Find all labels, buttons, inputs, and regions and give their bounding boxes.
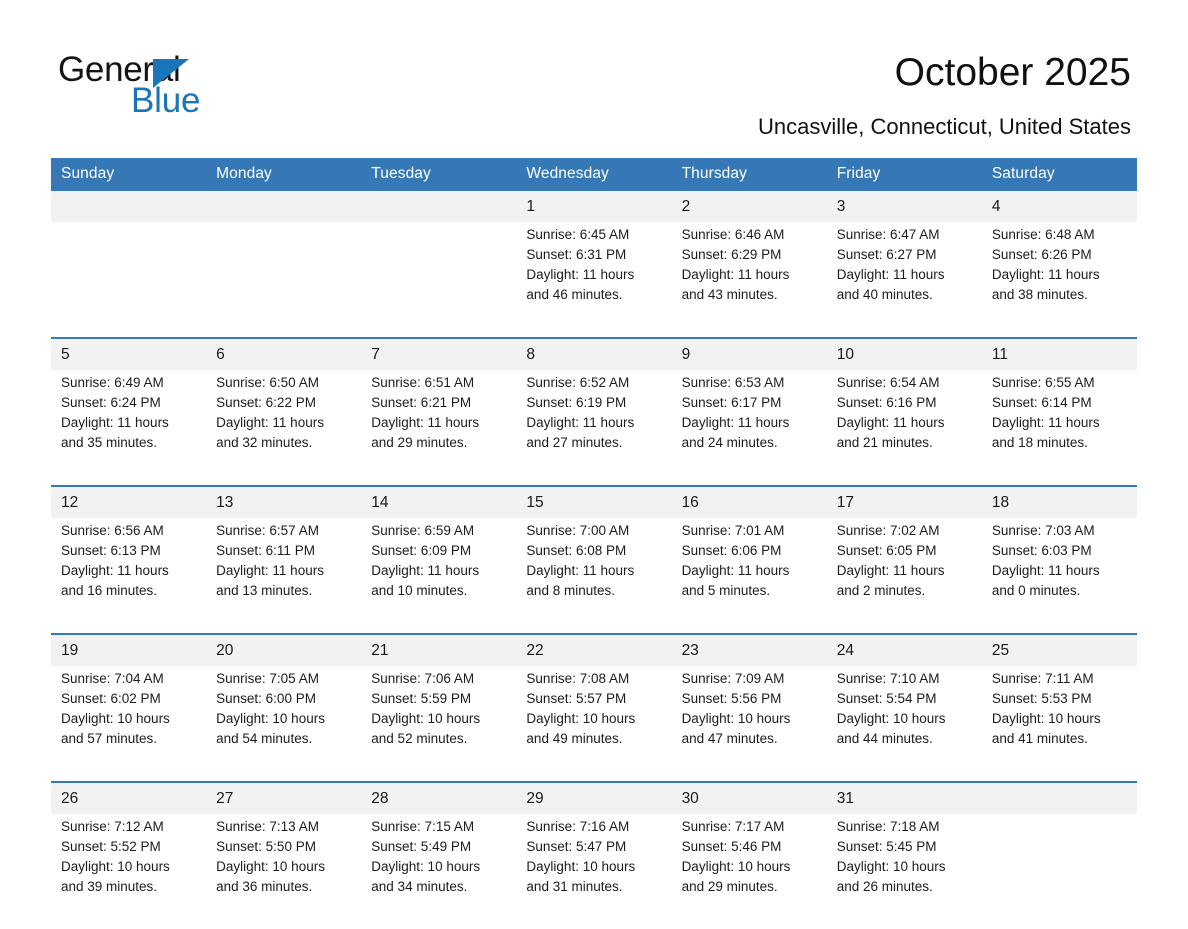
day-detail-line: and 10 minutes. [371,581,508,601]
day-detail-empty [361,222,516,338]
day-detail[interactable]: Sunrise: 7:05 AMSunset: 6:00 PMDaylight:… [206,666,361,782]
day-detail-line: Sunset: 6:31 PM [526,245,663,265]
day-detail-line: Sunrise: 7:08 AM [526,669,663,689]
day-number[interactable]: 23 [672,634,827,666]
day-number[interactable]: 19 [51,634,206,666]
day-detail-line: Sunrise: 7:11 AM [992,669,1129,689]
day-detail[interactable]: Sunrise: 6:59 AMSunset: 6:09 PMDaylight:… [361,518,516,634]
day-number[interactable]: 18 [982,486,1137,518]
day-detail[interactable]: Sunrise: 7:15 AMSunset: 5:49 PMDaylight:… [361,814,516,929]
day-detail-line: Daylight: 10 hours [61,857,198,877]
day-detail-line: Sunset: 5:45 PM [837,837,974,857]
day-detail-line: Sunset: 6:09 PM [371,541,508,561]
day-detail[interactable]: Sunrise: 6:48 AMSunset: 6:26 PMDaylight:… [982,222,1137,338]
weekday-header-wednesday: Wednesday [516,158,671,191]
week-detail-row: Sunrise: 7:12 AMSunset: 5:52 PMDaylight:… [51,814,1137,929]
weekday-header-monday: Monday [206,158,361,191]
day-detail-line: Sunset: 6:21 PM [371,393,508,413]
day-detail[interactable]: Sunrise: 7:02 AMSunset: 6:05 PMDaylight:… [827,518,982,634]
day-detail-line: Daylight: 11 hours [526,265,663,285]
day-detail-line: Sunset: 6:02 PM [61,689,198,709]
day-number[interactable]: 7 [361,338,516,370]
day-detail-line: Sunrise: 6:45 AM [526,225,663,245]
day-detail-line: Sunrise: 6:52 AM [526,373,663,393]
logo-text-blue: Blue [131,81,200,121]
day-detail[interactable]: Sunrise: 6:47 AMSunset: 6:27 PMDaylight:… [827,222,982,338]
day-detail-line: Daylight: 11 hours [682,265,819,285]
day-detail[interactable]: Sunrise: 7:13 AMSunset: 5:50 PMDaylight:… [206,814,361,929]
week-daynumber-row: 12131415161718 [51,486,1137,518]
day-number[interactable]: 25 [982,634,1137,666]
day-detail-line: Sunrise: 6:51 AM [371,373,508,393]
day-detail-line: Sunset: 5:50 PM [216,837,353,857]
day-detail-line: and 39 minutes. [61,877,198,897]
calendar-body: 1234 Sunrise: 6:45 AMSunset: 6:31 PMDayl… [51,191,1137,929]
day-detail-line: Daylight: 11 hours [682,561,819,581]
day-detail[interactable]: Sunrise: 7:00 AMSunset: 6:08 PMDaylight:… [516,518,671,634]
week-daynumber-row: 262728293031 [51,782,1137,814]
day-detail-line: Sunrise: 7:15 AM [371,817,508,837]
day-detail-line: Sunrise: 7:03 AM [992,521,1129,541]
day-detail-line: Sunset: 6:22 PM [216,393,353,413]
day-detail-line: Daylight: 11 hours [837,265,974,285]
day-detail[interactable]: Sunrise: 7:01 AMSunset: 6:06 PMDaylight:… [672,518,827,634]
day-detail-line: Sunset: 6:29 PM [682,245,819,265]
day-number[interactable]: 20 [206,634,361,666]
day-number[interactable]: 16 [672,486,827,518]
day-number[interactable]: 17 [827,486,982,518]
day-number[interactable]: 29 [516,782,671,814]
day-detail-line: Daylight: 11 hours [992,265,1129,285]
day-detail[interactable]: Sunrise: 7:03 AMSunset: 6:03 PMDaylight:… [982,518,1137,634]
week-daynumber-row: 1234 [51,191,1137,222]
day-detail[interactable]: Sunrise: 6:49 AMSunset: 6:24 PMDaylight:… [51,370,206,486]
weekday-header-sunday: Sunday [51,158,206,191]
day-detail-line: Sunrise: 6:53 AM [682,373,819,393]
day-detail-line: Sunset: 6:08 PM [526,541,663,561]
day-number[interactable]: 2 [672,191,827,222]
week-detail-row: Sunrise: 6:56 AMSunset: 6:13 PMDaylight:… [51,518,1137,634]
day-detail-line: Sunset: 6:24 PM [61,393,198,413]
day-detail-line: Sunrise: 7:02 AM [837,521,974,541]
day-number[interactable]: 9 [672,338,827,370]
day-detail-line: and 46 minutes. [526,285,663,305]
day-detail-line: and 32 minutes. [216,433,353,453]
day-detail-line: Sunset: 5:47 PM [526,837,663,857]
day-detail-line: Daylight: 11 hours [216,561,353,581]
day-detail-line: and 35 minutes. [61,433,198,453]
day-detail-line: and 54 minutes. [216,729,353,749]
day-detail[interactable]: Sunrise: 6:53 AMSunset: 6:17 PMDaylight:… [672,370,827,486]
day-number[interactable]: 22 [516,634,671,666]
general-blue-logo[interactable]: General Blue [58,50,318,122]
day-detail-line: Daylight: 11 hours [526,561,663,581]
day-detail-line: Daylight: 10 hours [837,709,974,729]
day-number[interactable]: 4 [982,191,1137,222]
day-detail-line: Sunset: 5:49 PM [371,837,508,857]
day-detail-empty [51,222,206,338]
day-detail-line: Daylight: 10 hours [216,709,353,729]
day-detail-line: and 29 minutes. [371,433,508,453]
day-detail-empty [982,814,1137,929]
day-detail-line: Sunset: 6:19 PM [526,393,663,413]
day-number[interactable]: 10 [827,338,982,370]
day-detail-line: Sunrise: 6:54 AM [837,373,974,393]
day-detail-line: Daylight: 10 hours [371,709,508,729]
day-detail-line: Daylight: 10 hours [371,857,508,877]
day-detail-line: Sunset: 6:14 PM [992,393,1129,413]
week-detail-row: Sunrise: 7:04 AMSunset: 6:02 PMDaylight:… [51,666,1137,782]
day-detail[interactable]: Sunrise: 7:09 AMSunset: 5:56 PMDaylight:… [672,666,827,782]
weekday-header-saturday: Saturday [982,158,1137,191]
page-subtitle-location: Uncasville, Connecticut, United States [758,114,1131,140]
day-detail-line: Sunset: 6:05 PM [837,541,974,561]
day-detail-line: Sunrise: 7:16 AM [526,817,663,837]
day-detail-line: and 29 minutes. [682,877,819,897]
day-detail-line: Sunrise: 7:12 AM [61,817,198,837]
calendar-header-row: Sunday Monday Tuesday Wednesday Thursday… [51,158,1137,191]
day-detail-line: Daylight: 10 hours [61,709,198,729]
day-detail-line: Sunset: 6:27 PM [837,245,974,265]
day-number[interactable]: 28 [361,782,516,814]
day-detail-line: Sunset: 5:57 PM [526,689,663,709]
day-detail[interactable]: Sunrise: 7:16 AMSunset: 5:47 PMDaylight:… [516,814,671,929]
day-detail-line: and 41 minutes. [992,729,1129,749]
day-detail-line: and 13 minutes. [216,581,353,601]
day-detail-line: and 0 minutes. [992,581,1129,601]
day-number[interactable]: 26 [51,782,206,814]
day-detail-line: and 43 minutes. [682,285,819,305]
day-detail-line: Sunrise: 6:59 AM [371,521,508,541]
day-detail-line: Sunset: 6:00 PM [216,689,353,709]
day-number-empty [206,191,361,222]
day-detail-line: Daylight: 10 hours [837,857,974,877]
day-detail-line: Daylight: 10 hours [682,857,819,877]
day-detail-line: Daylight: 10 hours [992,709,1129,729]
day-detail[interactable]: Sunrise: 6:46 AMSunset: 6:29 PMDaylight:… [672,222,827,338]
day-detail-line: Sunrise: 6:46 AM [682,225,819,245]
day-detail-line: and 52 minutes. [371,729,508,749]
day-detail-line: Sunset: 5:56 PM [682,689,819,709]
day-detail-line: and 24 minutes. [682,433,819,453]
day-detail-line: Daylight: 11 hours [992,413,1129,433]
day-detail-line: Sunrise: 7:06 AM [371,669,508,689]
day-detail-line: Sunset: 6:11 PM [216,541,353,561]
page-title: October 2025 [895,50,1131,96]
day-detail-line: Daylight: 11 hours [837,561,974,581]
day-detail[interactable]: Sunrise: 7:10 AMSunset: 5:54 PMDaylight:… [827,666,982,782]
day-detail-line: Sunrise: 7:17 AM [682,817,819,837]
day-detail-line: and 38 minutes. [992,285,1129,305]
day-detail-line: Sunrise: 6:57 AM [216,521,353,541]
day-detail-line: Daylight: 10 hours [526,709,663,729]
day-detail-line: Sunset: 5:54 PM [837,689,974,709]
day-number[interactable]: 27 [206,782,361,814]
weekday-header-tuesday: Tuesday [361,158,516,191]
day-detail-line: and 27 minutes. [526,433,663,453]
day-detail-line: Sunrise: 7:01 AM [682,521,819,541]
day-number[interactable]: 3 [827,191,982,222]
day-detail[interactable]: Sunrise: 6:54 AMSunset: 6:16 PMDaylight:… [827,370,982,486]
day-detail-line: Daylight: 11 hours [61,413,198,433]
calendar-grid: Sunday Monday Tuesday Wednesday Thursday… [51,158,1137,929]
day-detail-line: Sunrise: 6:50 AM [216,373,353,393]
day-detail-line: and 47 minutes. [682,729,819,749]
day-detail-line: and 40 minutes. [837,285,974,305]
calendar-page: General Blue October 2025 Uncasville, Co… [0,0,1188,918]
day-detail[interactable]: Sunrise: 6:51 AMSunset: 6:21 PMDaylight:… [361,370,516,486]
day-number[interactable]: 15 [516,486,671,518]
day-detail-line: Sunrise: 7:09 AM [682,669,819,689]
day-detail-line: Sunrise: 7:13 AM [216,817,353,837]
day-number[interactable]: 13 [206,486,361,518]
day-detail-line: Daylight: 11 hours [682,413,819,433]
day-number[interactable]: 24 [827,634,982,666]
day-detail-line: and 49 minutes. [526,729,663,749]
day-detail[interactable]: Sunrise: 6:55 AMSunset: 6:14 PMDaylight:… [982,370,1137,486]
day-detail[interactable]: Sunrise: 7:06 AMSunset: 5:59 PMDaylight:… [361,666,516,782]
day-detail[interactable]: Sunrise: 6:45 AMSunset: 6:31 PMDaylight:… [516,222,671,338]
day-number[interactable]: 30 [672,782,827,814]
day-detail-line: Sunrise: 7:18 AM [837,817,974,837]
day-detail[interactable]: Sunrise: 7:12 AMSunset: 5:52 PMDaylight:… [51,814,206,929]
week-daynumber-row: 19202122232425 [51,634,1137,666]
day-detail-line: Sunset: 6:06 PM [682,541,819,561]
day-number-empty [361,191,516,222]
day-number[interactable]: 5 [51,338,206,370]
day-number-empty [982,782,1137,814]
day-detail[interactable]: Sunrise: 6:50 AMSunset: 6:22 PMDaylight:… [206,370,361,486]
day-detail[interactable]: Sunrise: 7:18 AMSunset: 5:45 PMDaylight:… [827,814,982,929]
day-detail-line: Daylight: 10 hours [526,857,663,877]
day-detail-line: Sunset: 5:59 PM [371,689,508,709]
day-detail-line: Daylight: 11 hours [61,561,198,581]
day-detail-line: Sunrise: 6:55 AM [992,373,1129,393]
day-detail-line: Sunrise: 6:49 AM [61,373,198,393]
day-detail-line: Daylight: 11 hours [371,561,508,581]
day-detail-line: and 31 minutes. [526,877,663,897]
day-detail-line: Sunset: 6:26 PM [992,245,1129,265]
day-detail-line: Daylight: 10 hours [216,857,353,877]
day-detail-empty [206,222,361,338]
day-detail-line: and 36 minutes. [216,877,353,897]
day-detail-line: Daylight: 11 hours [216,413,353,433]
day-detail[interactable]: Sunrise: 7:11 AMSunset: 5:53 PMDaylight:… [982,666,1137,782]
day-number[interactable]: 11 [982,338,1137,370]
day-detail-line: Sunrise: 7:04 AM [61,669,198,689]
week-detail-row: Sunrise: 6:49 AMSunset: 6:24 PMDaylight:… [51,370,1137,486]
day-number[interactable]: 31 [827,782,982,814]
day-detail[interactable]: Sunrise: 7:17 AMSunset: 5:46 PMDaylight:… [672,814,827,929]
day-detail-line: Sunset: 6:13 PM [61,541,198,561]
day-detail[interactable]: Sunrise: 7:08 AMSunset: 5:57 PMDaylight:… [516,666,671,782]
day-detail-line: and 34 minutes. [371,877,508,897]
day-detail-line: Sunrise: 7:05 AM [216,669,353,689]
day-detail[interactable]: Sunrise: 6:57 AMSunset: 6:11 PMDaylight:… [206,518,361,634]
day-detail-line: and 57 minutes. [61,729,198,749]
day-detail-line: and 16 minutes. [61,581,198,601]
day-detail-line: Sunset: 5:46 PM [682,837,819,857]
day-number-empty [51,191,206,222]
day-detail-line: Daylight: 11 hours [371,413,508,433]
day-detail-line: Sunset: 6:17 PM [682,393,819,413]
day-number[interactable]: 6 [206,338,361,370]
day-detail-line: Sunrise: 6:56 AM [61,521,198,541]
weekday-header-thursday: Thursday [672,158,827,191]
day-detail-line: and 8 minutes. [526,581,663,601]
day-detail-line: Sunset: 6:03 PM [992,541,1129,561]
day-number[interactable]: 12 [51,486,206,518]
day-detail[interactable]: Sunrise: 6:56 AMSunset: 6:13 PMDaylight:… [51,518,206,634]
day-detail-line: and 44 minutes. [837,729,974,749]
day-detail-line: Daylight: 11 hours [837,413,974,433]
week-detail-row: Sunrise: 6:45 AMSunset: 6:31 PMDaylight:… [51,222,1137,338]
day-detail[interactable]: Sunrise: 6:52 AMSunset: 6:19 PMDaylight:… [516,370,671,486]
day-number[interactable]: 1 [516,191,671,222]
page-header: General Blue October 2025 Uncasville, Co… [0,0,1188,152]
day-detail-line: and 18 minutes. [992,433,1129,453]
day-number[interactable]: 14 [361,486,516,518]
day-detail-line: Sunrise: 7:00 AM [526,521,663,541]
day-detail-line: Sunrise: 6:48 AM [992,225,1129,245]
calendar-table: Sunday Monday Tuesday Wednesday Thursday… [51,158,1137,929]
day-detail-line: Sunset: 5:52 PM [61,837,198,857]
day-detail-line: Daylight: 10 hours [682,709,819,729]
day-detail-line: and 26 minutes. [837,877,974,897]
week-daynumber-row: 567891011 [51,338,1137,370]
day-detail-line: Sunrise: 6:47 AM [837,225,974,245]
day-detail-line: Sunset: 6:16 PM [837,393,974,413]
day-detail-line: Daylight: 11 hours [992,561,1129,581]
day-detail-line: Sunrise: 7:10 AM [837,669,974,689]
day-number[interactable]: 8 [516,338,671,370]
day-detail-line: Daylight: 11 hours [526,413,663,433]
day-detail-line: Sunset: 5:53 PM [992,689,1129,709]
day-number[interactable]: 21 [361,634,516,666]
day-detail-line: and 2 minutes. [837,581,974,601]
day-detail-line: and 21 minutes. [837,433,974,453]
day-detail[interactable]: Sunrise: 7:04 AMSunset: 6:02 PMDaylight:… [51,666,206,782]
weekday-header-friday: Friday [827,158,982,191]
day-detail-line: and 5 minutes. [682,581,819,601]
